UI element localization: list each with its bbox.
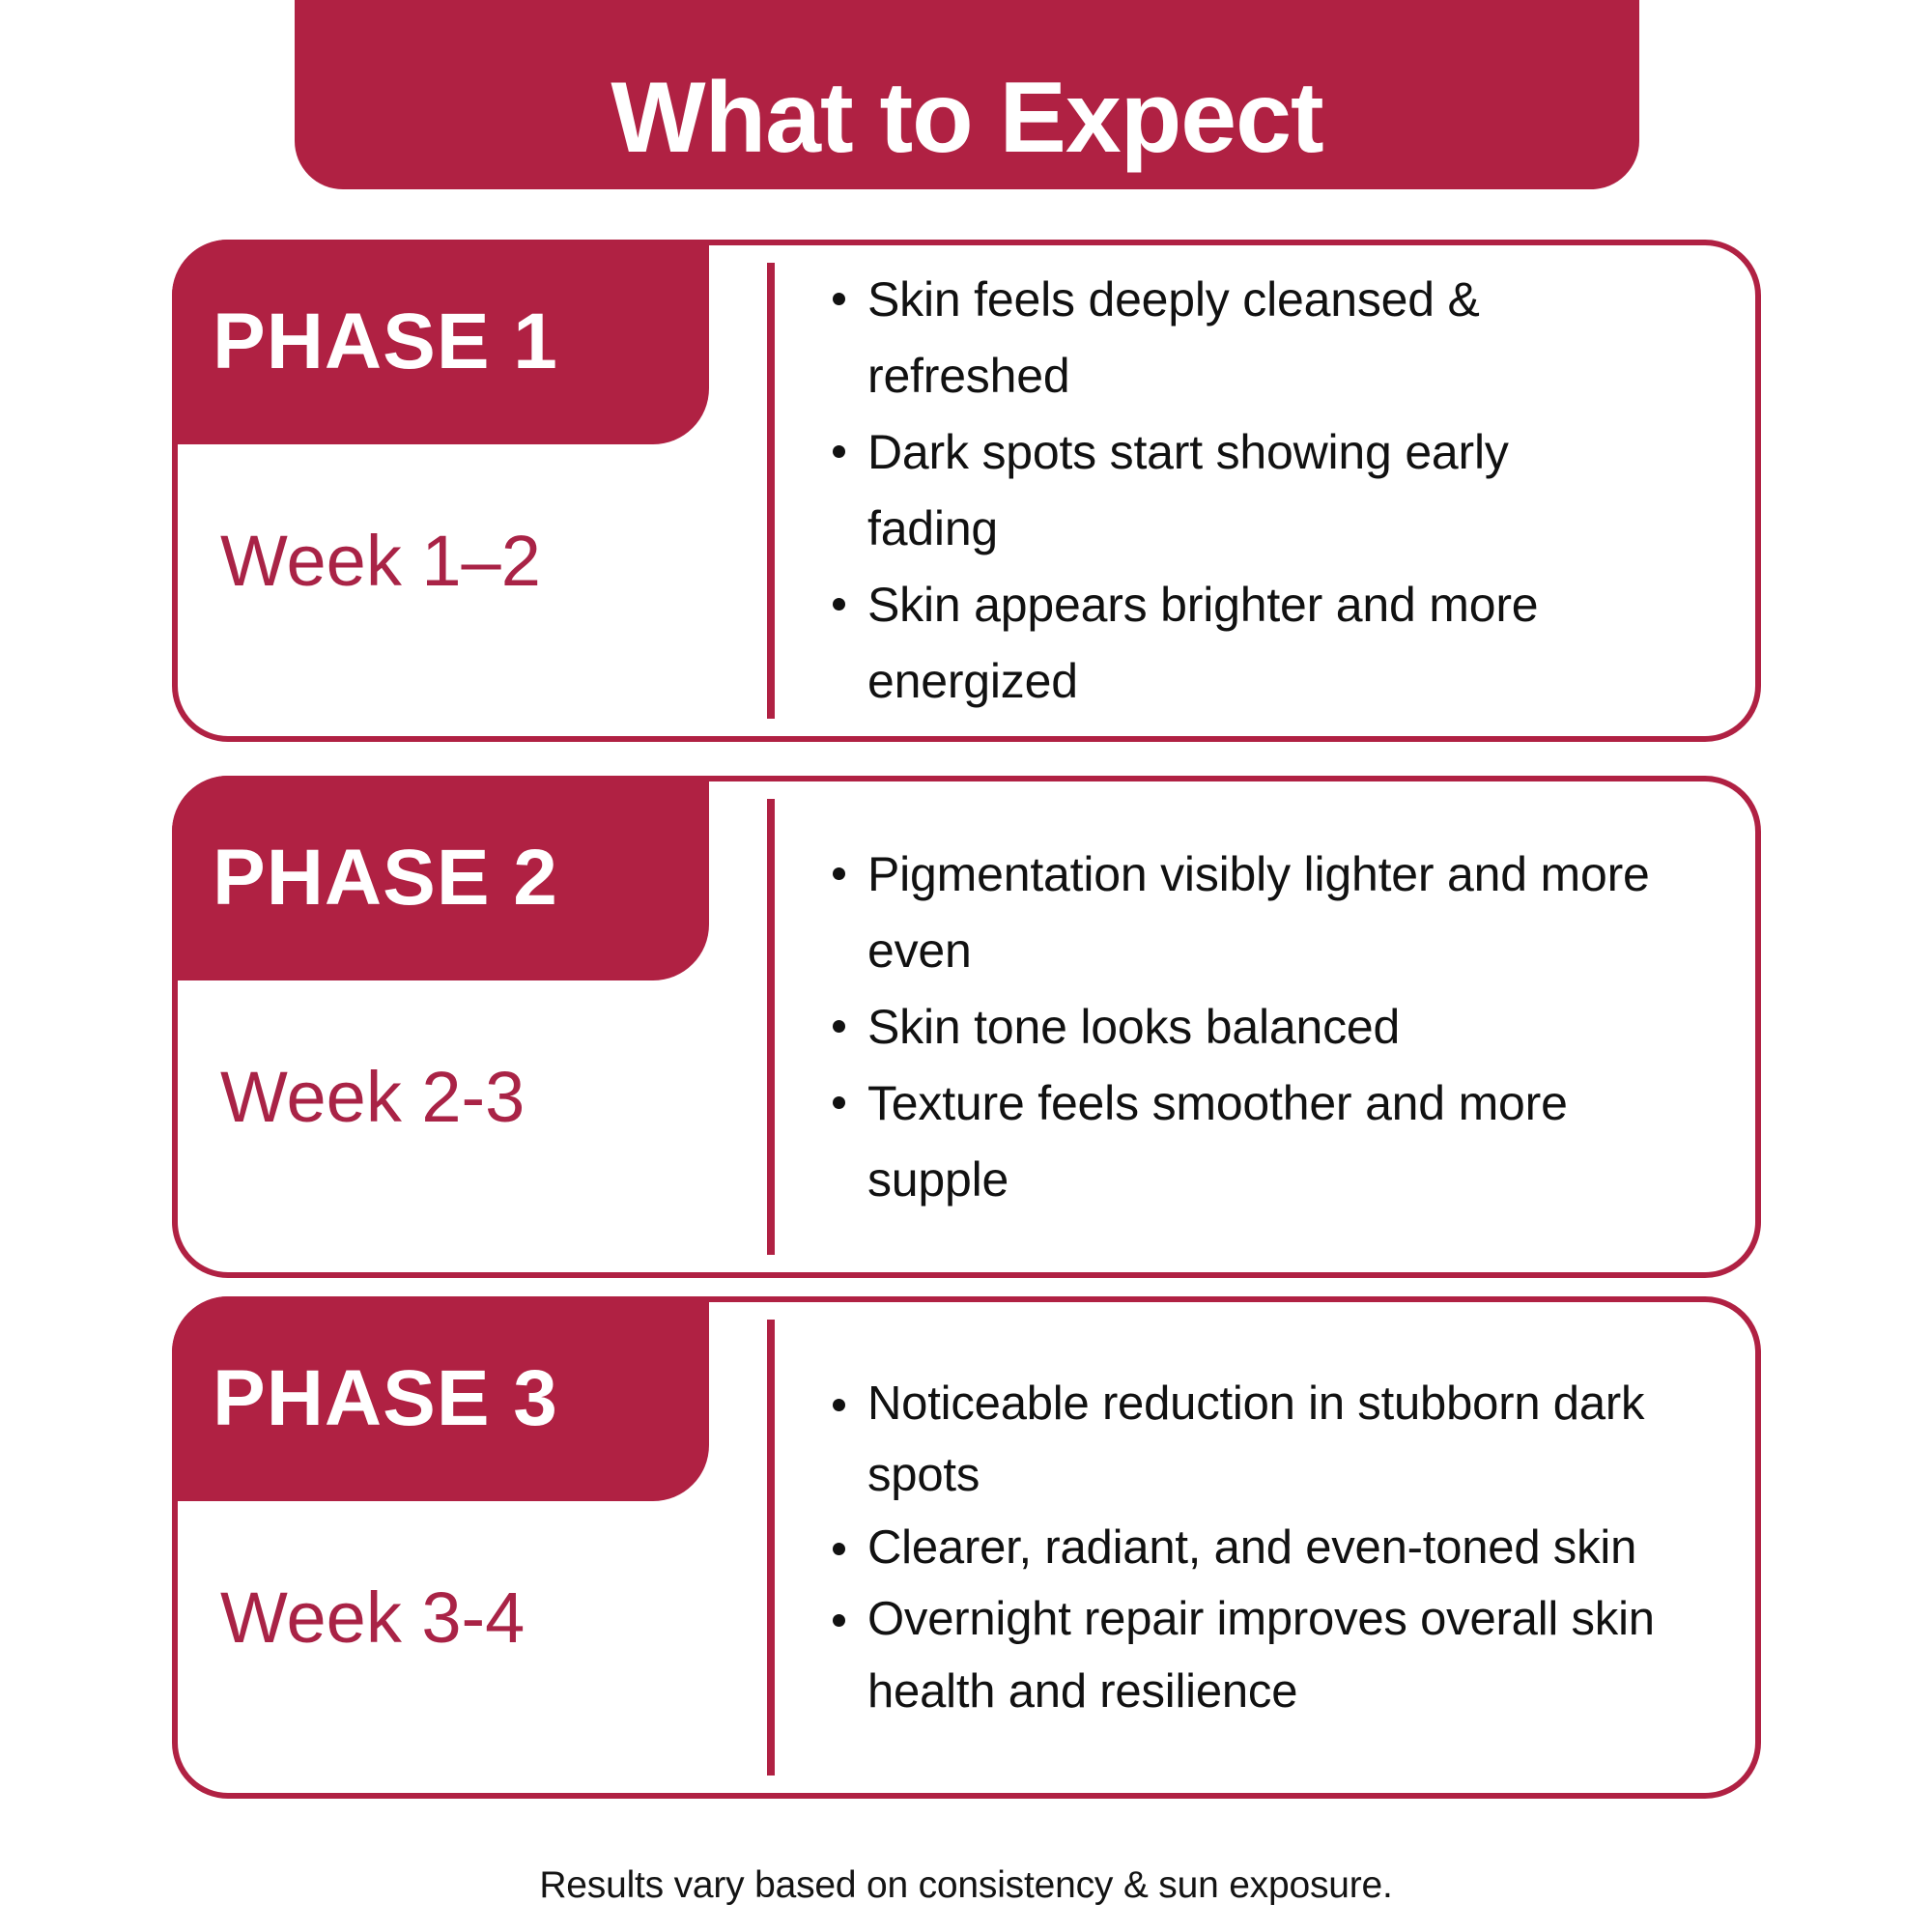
phase-card-2: PHASE 2 Week 2-3 Pigmentation visibly li… bbox=[172, 776, 1761, 1278]
phase-1-left-column: PHASE 1 Week 1–2 bbox=[178, 245, 767, 736]
phase-card-1: PHASE 1 Week 1–2 Skin feels deeply clean… bbox=[172, 240, 1761, 742]
list-item: Clearer, radiant, and even-toned skin bbox=[819, 1512, 1736, 1583]
phase-3-badge-label: PHASE 3 bbox=[213, 1359, 558, 1438]
phase-2-badge: PHASE 2 bbox=[172, 776, 709, 980]
phase-2-divider bbox=[767, 799, 775, 1255]
phase-2-week-label: Week 2-3 bbox=[220, 1062, 525, 1133]
phase-2-left-column: PHASE 2 Week 2-3 bbox=[178, 781, 767, 1272]
list-item: Noticeable reduction in stubborn dark sp… bbox=[819, 1368, 1736, 1512]
list-item: Skin feels deeply cleansed & refreshed bbox=[819, 262, 1649, 414]
phase-1-badge-label: PHASE 1 bbox=[213, 302, 558, 382]
list-item: Skin appears brighter and more energized bbox=[819, 567, 1649, 720]
phase-1-bullet-list: Skin feels deeply cleansed & refreshed D… bbox=[819, 262, 1649, 720]
page-title: What to Expect bbox=[611, 68, 1322, 168]
phase-1-week-label: Week 1–2 bbox=[220, 526, 541, 597]
phase-card-3: PHASE 3 Week 3-4 Noticeable reduction in… bbox=[172, 1296, 1761, 1799]
list-item: Skin tone looks balanced bbox=[819, 989, 1691, 1065]
phase-3-bullet-list: Noticeable reduction in stubborn dark sp… bbox=[819, 1368, 1736, 1727]
list-item: Dark spots start showing early fading bbox=[819, 414, 1649, 567]
list-item: Pigmentation visibly lighter and more ev… bbox=[819, 837, 1691, 989]
phase-2-right-column: Pigmentation visibly lighter and more ev… bbox=[775, 781, 1755, 1272]
phase-1-right-column: Skin feels deeply cleansed & refreshed D… bbox=[775, 245, 1755, 736]
phase-1-badge: PHASE 1 bbox=[172, 240, 709, 444]
phase-3-badge: PHASE 3 bbox=[172, 1296, 709, 1501]
phase-2-badge-label: PHASE 2 bbox=[213, 838, 558, 918]
phase-3-divider bbox=[767, 1320, 775, 1776]
phase-2-bullet-list: Pigmentation visibly lighter and more ev… bbox=[819, 837, 1691, 1218]
footer-disclaimer: Results vary based on consistency & sun … bbox=[0, 1864, 1932, 1907]
list-item: Overnight repair improves overall skin h… bbox=[819, 1583, 1736, 1727]
phase-3-week-label: Week 3-4 bbox=[220, 1582, 525, 1654]
header-banner: What to Expect bbox=[295, 0, 1639, 189]
list-item: Texture feels smoother and more supple bbox=[819, 1065, 1691, 1218]
phase-1-divider bbox=[767, 263, 775, 719]
infographic-page: What to Expect PHASE 1 Week 1–2 Skin fee… bbox=[0, 0, 1932, 1932]
phase-3-left-column: PHASE 3 Week 3-4 bbox=[178, 1302, 767, 1793]
phase-3-right-column: Noticeable reduction in stubborn dark sp… bbox=[775, 1302, 1755, 1793]
